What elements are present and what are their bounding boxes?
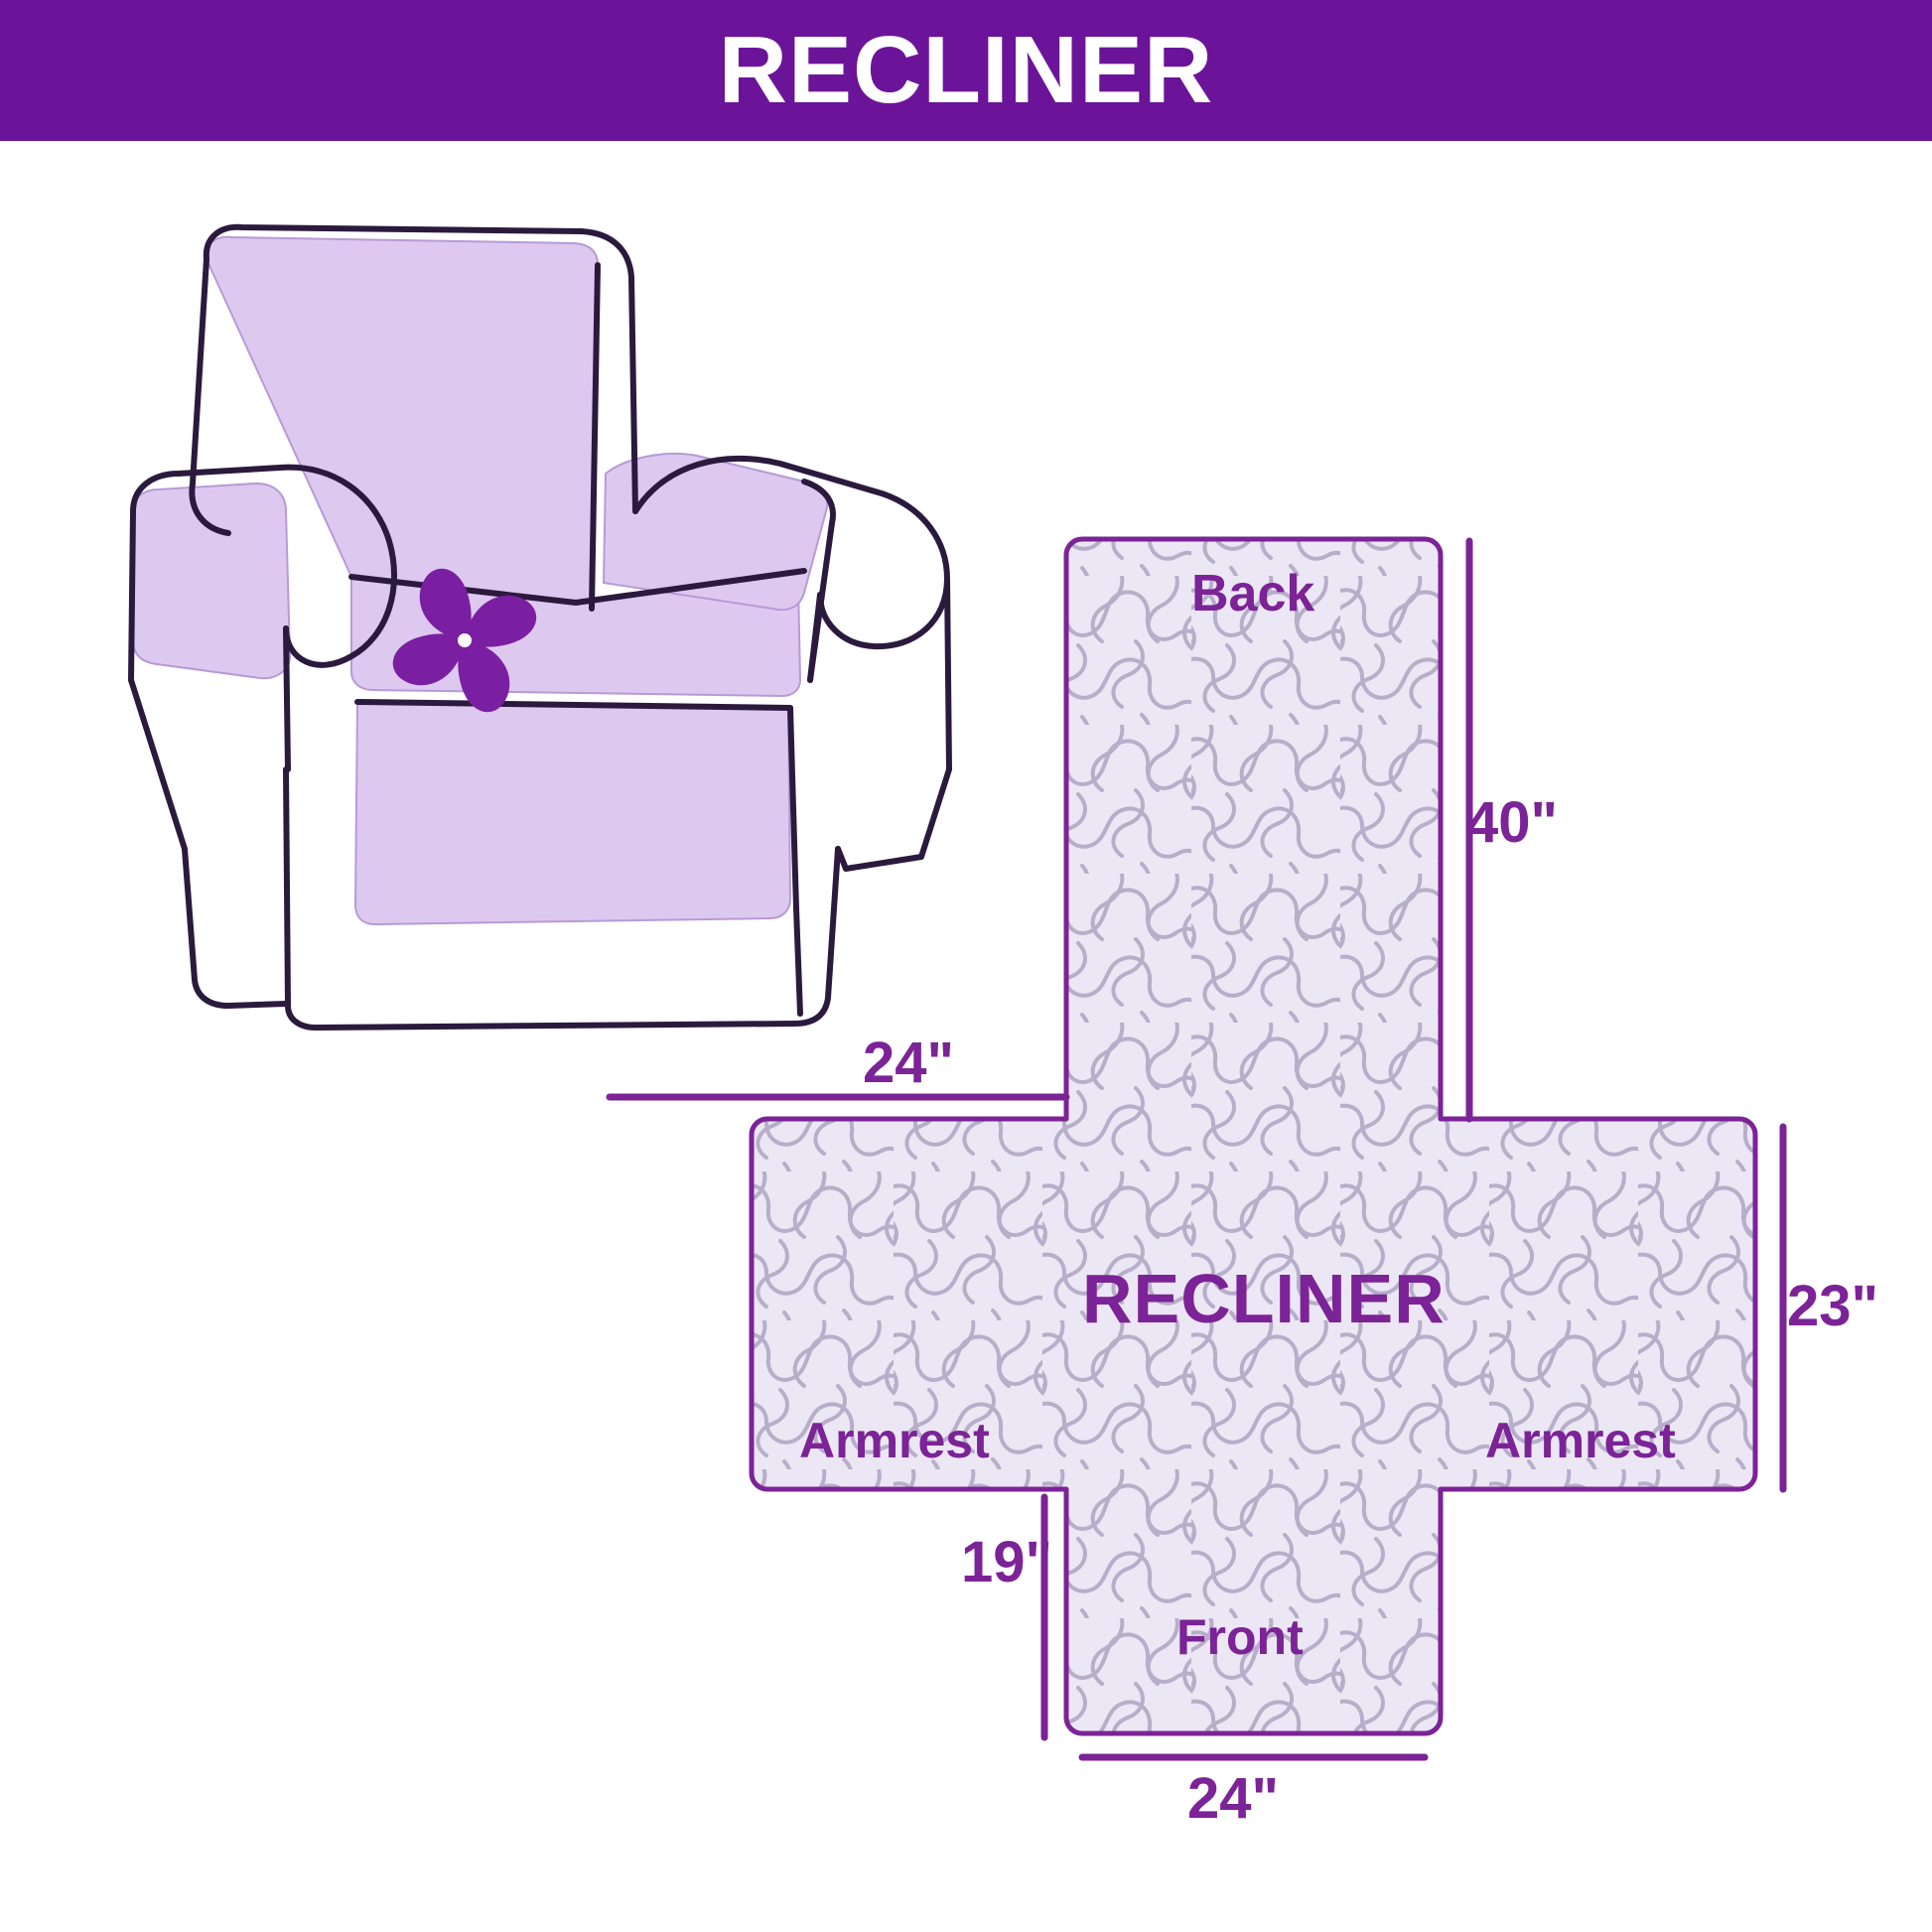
panel-label-armrest-left: Armrest: [799, 1412, 990, 1469]
panel-label-recliner: RECLINER: [1082, 1259, 1446, 1338]
panel-label-armrest-right: Armrest: [1485, 1412, 1676, 1469]
dimension-label-armrest-width: 24": [863, 1030, 954, 1096]
dimension-label-front-width: 24": [1187, 1765, 1279, 1832]
page-title: RECLINER: [719, 23, 1214, 118]
slipcover-size-guide: RECLINER: [0, 0, 1932, 1932]
page-header-banner: RECLINER: [0, 0, 1932, 141]
slipcover-flat-diagram: [596, 427, 1932, 1916]
dimension-label-seat-depth: 23": [1787, 1273, 1878, 1339]
panel-label-back: Back: [1191, 564, 1314, 623]
dimension-label-back-height: 40": [1466, 789, 1558, 856]
dimension-label-front-height: 19": [961, 1529, 1052, 1595]
cover-cross-outline: [752, 539, 1755, 1733]
panel-label-front: Front: [1176, 1608, 1304, 1666]
cover-armrest-left: [133, 483, 290, 678]
